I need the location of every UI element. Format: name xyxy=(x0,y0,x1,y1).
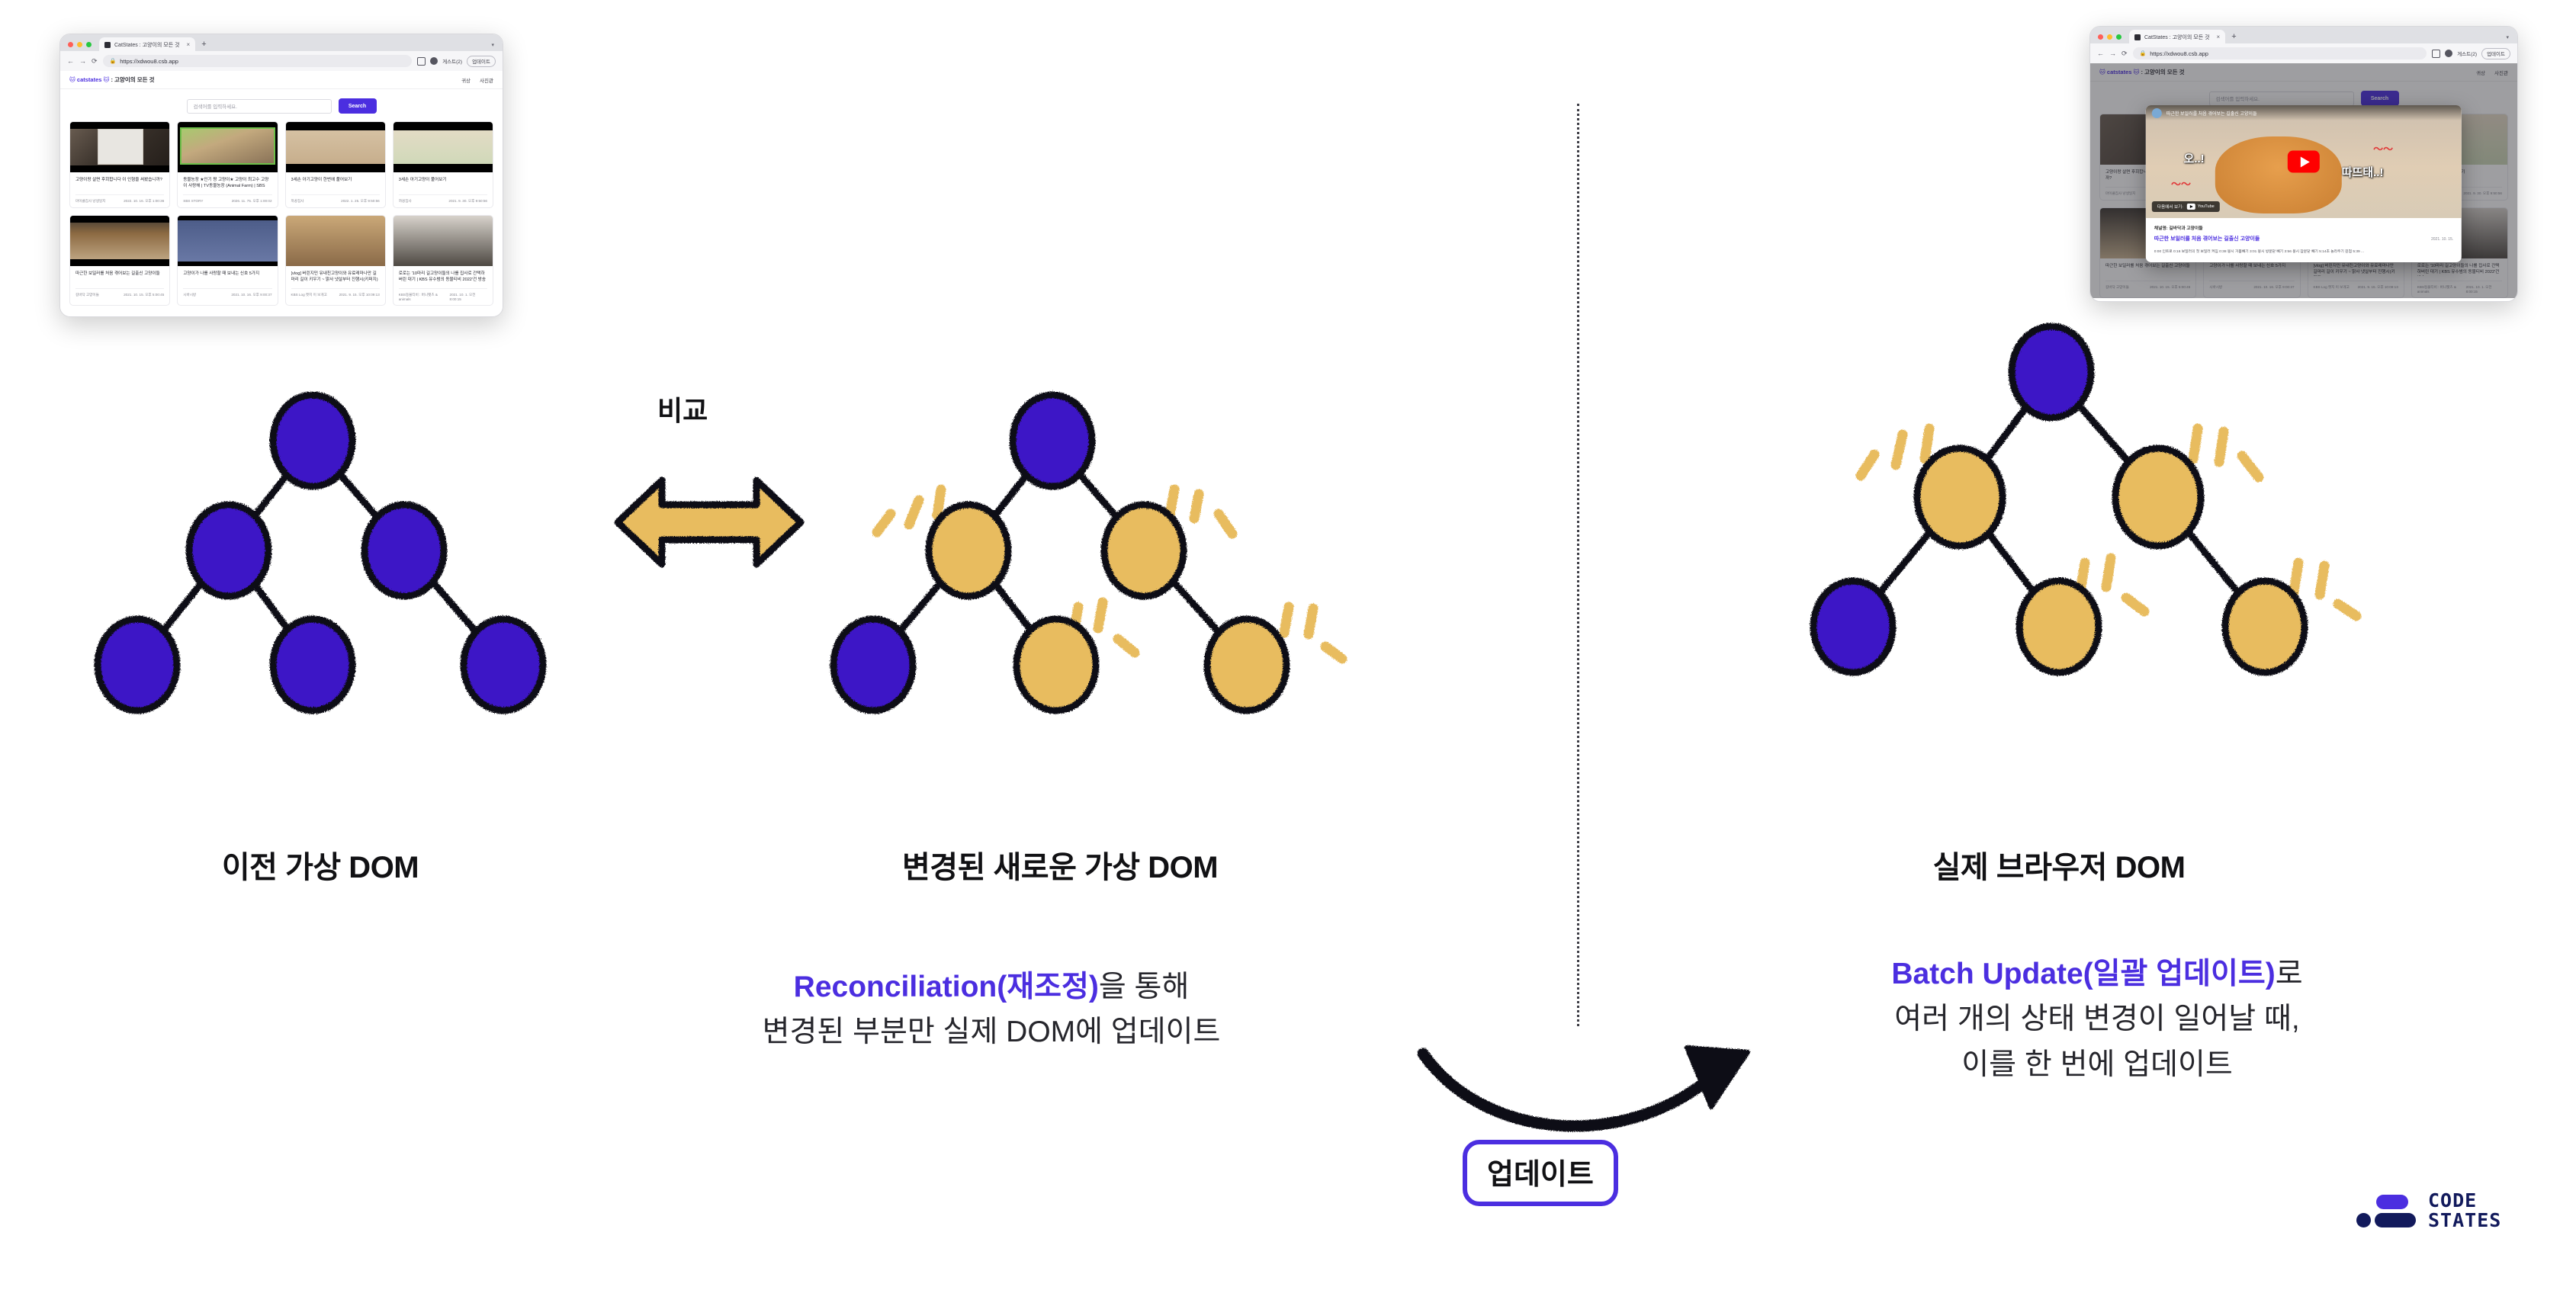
tree-node-ll[interactable] xyxy=(1813,581,1893,672)
youtube-label: YouTube xyxy=(2198,204,2215,209)
omnibox-toolbar: ← → ⟳ 🔒 https://xdwou8.csb.app 게스트(2) 업데… xyxy=(60,51,503,71)
tab-strip: CatStates : 고양이의 모든 것 × + ▾ xyxy=(60,34,503,51)
card-title: 따근한 보일러를 처음 겪어보는 길출신 고양이들 xyxy=(75,271,164,284)
logo-pill-top-icon xyxy=(2376,1195,2408,1209)
modal-kicker: 채널명: 길바닥과 고양이들 xyxy=(2154,224,2453,231)
tree-label-new: 변경된 새로운 가상 DOM xyxy=(763,842,1357,887)
logo-pill-bottom-icon xyxy=(2375,1213,2416,1227)
omnibox-actions: 게스트(2) 업데이트 xyxy=(417,56,496,67)
caption-left-highlight: Reconciliation(재조정) xyxy=(794,971,1099,1003)
sidepanel-icon[interactable] xyxy=(2432,50,2440,58)
overlay-text-1: 따뜨태..! xyxy=(2342,164,2384,180)
card-title: 3세손 아기고양이 풀어보기 xyxy=(399,177,487,190)
logo-mark-icon xyxy=(2356,1193,2416,1228)
minimize-window-icon[interactable] xyxy=(2107,34,2112,40)
search-button[interactable]: Search xyxy=(339,98,377,114)
browser-tab[interactable]: CatStates : 고양이의 모든 것 × xyxy=(99,37,195,53)
close-window-icon[interactable] xyxy=(2098,34,2103,40)
thumbnail xyxy=(178,122,277,172)
video-title: 따근한 보일러를 처음 겪어보는 길출신 고양이들 xyxy=(2166,110,2257,117)
maximize-window-icon[interactable] xyxy=(2116,34,2122,40)
tree-node-rr[interactable] xyxy=(2225,581,2305,672)
tree-node-r[interactable] xyxy=(365,505,444,596)
caption-right-tail: 로 xyxy=(2276,958,2303,990)
thumbnail xyxy=(393,216,493,266)
card-date: 2022. 10. 16. 오후 1:00:36 xyxy=(124,199,164,204)
logo-wordmark: CODE STATES xyxy=(2428,1191,2501,1230)
reload-icon[interactable]: ⟳ xyxy=(2122,50,2128,57)
tree-node-root[interactable] xyxy=(2012,326,2091,418)
card-title: 로로는 '10마리 길고양이들의 나를 집사로 간택하버린 대기 | KBS 유… xyxy=(399,271,487,284)
caption-left-line2: 변경된 부분만 실제 DOM에 업데이트 xyxy=(534,1009,1449,1054)
modal-date: 2021. 10. 15. xyxy=(2431,237,2453,242)
video-card-grid: 고양이랑 살면 후회합니다 이 인형을 써봤습니까? 마이클집사 냥생일지 20… xyxy=(60,121,503,315)
caption-reconciliation: Reconciliation(재조정)을 통해 변경된 부분만 실제 DOM에 … xyxy=(534,964,1449,1055)
card-date: 2021. 10. 15. 오후 5:00:45 xyxy=(124,293,164,297)
tab-title: CatStates : 고양이의 모든 것 xyxy=(2144,34,2210,41)
card-channel: 길바닥 고양이들 xyxy=(75,293,99,297)
lock-icon: 🔒 xyxy=(110,58,117,64)
browser-chrome: CatStates : 고양이의 모든 것 × + ▾ ← → ⟳ 🔒 http… xyxy=(60,34,503,71)
watch-on-youtube[interactable]: 다음에서 보기: YouTube xyxy=(2152,201,2220,212)
browser-chrome: CatStates : 고양이의 모든 것 × + ▾ ← → ⟳ 🔒 http… xyxy=(2090,27,2517,63)
caption-left-line1: Reconciliation(재조정)을 통해 xyxy=(534,964,1449,1009)
video-card[interactable]: 고양이랑 살면 후회합니다 이 인형을 써봤습니까? 마이클집사 냥생일지 20… xyxy=(69,121,170,208)
site-brand[interactable]: 🐱 catstates 🐱 : 고양이의 모든 것 xyxy=(69,75,155,84)
tree-node-r[interactable] xyxy=(1104,505,1184,596)
browser-tab[interactable]: CatStates : 고양이의 모든 것 × xyxy=(2129,30,2225,45)
card-date: 2022. 1. 25. 오후 9:50:56 xyxy=(341,199,380,204)
tree-new-virtual-dom xyxy=(770,351,1350,762)
profile-label: 게스트(2) xyxy=(442,57,462,65)
site-nav: 귀상 사진관 xyxy=(461,76,493,84)
card-date: 2021. 9. 30. 오후 9:50:56 xyxy=(448,199,487,204)
tree-node-lr[interactable] xyxy=(1017,619,1096,711)
card-meta: KBS Log 캣지 이 보개고 2021. 9. 15. 오후 10:09:1… xyxy=(291,288,380,297)
video-modal[interactable]: 따근한 보일러를 처음 겪어보는 길출신 고양이들 오..! 따뜨태..! 〜〜… xyxy=(2146,105,2462,262)
video-card[interactable]: 고양이가 나를 사랑할 때 보내는 신호 5가지 시바시방 2021. 10. … xyxy=(177,215,278,306)
nav-item-1[interactable]: 사진관 xyxy=(480,76,493,84)
video-card[interactable]: [vlog] 버린지민 유내친고양이와 유료레마나만 길마리 길이 키우기 ~ … xyxy=(285,215,386,306)
new-tab-icon[interactable]: + xyxy=(201,40,206,49)
tree-nodes xyxy=(834,395,1286,711)
tree-nodes xyxy=(1813,326,2305,672)
codestates-logo: CODE STATES xyxy=(2356,1191,2501,1230)
video-player[interactable]: 따근한 보일러를 처음 겪어보는 길출신 고양이들 오..! 따뜨태..! 〜〜… xyxy=(2146,105,2462,218)
video-card[interactable]: 3세손 아기고양이 한번에 풀어보기 까꿍집사 2022. 1. 25. 오후 … xyxy=(285,121,386,208)
back-icon[interactable]: ← xyxy=(67,58,74,65)
tree-label-real: 실제 브라우저 DOM xyxy=(1739,842,2379,887)
omnibox-actions: 게스트(2) 업데이트 xyxy=(2432,48,2510,59)
steam-icon-right: 〜〜 xyxy=(2373,141,2393,156)
traffic-lights[interactable] xyxy=(2098,34,2122,40)
tree-node-root[interactable] xyxy=(1013,395,1092,486)
caption-left-tail: 을 통해 xyxy=(1099,971,1189,1003)
modal-title-row: 따근한 보일러를 처음 겪어보는 길출신 고양이들 2021. 10. 15. xyxy=(2154,235,2453,242)
video-card[interactable]: 로로는 '10마리 길고양이들의 나를 집사로 간택하버린 대기 | KBS 유… xyxy=(393,215,493,306)
card-date: 2021. 10. 16. 오후 9:00:37 xyxy=(231,293,271,297)
favicon-icon xyxy=(2134,34,2141,40)
url-text: https://xdwou8.csb.app xyxy=(120,58,178,65)
video-card[interactable]: 3세손 아기고양이 풀어보기 까꿍집사 2021. 9. 30. 오후 9:50… xyxy=(393,121,493,208)
card-meta: KBS동물티비 : 버니펫츠 & animals 2021. 10. 1. 오전… xyxy=(399,288,487,301)
chevron-down-icon[interactable]: ▾ xyxy=(2506,34,2511,40)
avatar[interactable] xyxy=(430,57,438,65)
tab-strip: CatStates : 고양이의 모든 것 × + ▾ xyxy=(2090,27,2517,43)
thumbnail xyxy=(286,122,385,172)
new-tab-icon[interactable]: + xyxy=(2231,33,2236,41)
thumbnail xyxy=(70,122,169,172)
search-row: 검색어를 입력하세요. Search xyxy=(60,89,503,121)
sparkle-group-rr xyxy=(1284,607,1342,659)
card-channel: KBS Log 캣지 이 보개고 xyxy=(291,293,327,297)
compare-label: 비교 xyxy=(657,389,708,428)
avatar[interactable] xyxy=(2445,50,2452,57)
video-titlebar: 따근한 보일러를 처음 겪어보는 길출신 고양이들 xyxy=(2146,105,2462,120)
card-meta: 마이클집사 냥생일지 2022. 10. 16. 오후 1:00:36 xyxy=(75,194,164,204)
steam-icon-left: 〜〜 xyxy=(2171,176,2191,191)
thumbnail xyxy=(286,216,385,266)
tree-node-rr[interactable] xyxy=(464,619,543,711)
site-content-old: 🐱 catstates 🐱 : 고양이의 모든 것 귀상 사진관 검색어를 입력… xyxy=(60,71,503,313)
forward-icon[interactable]: → xyxy=(79,58,86,65)
maximize-window-icon[interactable] xyxy=(86,42,92,47)
card-channel: 까꿍집사 xyxy=(291,199,304,204)
caption-right-line1: Batch Update(일괄 업데이트)로 xyxy=(1716,951,2478,996)
modal-description: 0:00 인트로 0:16 보일러의 첫 보일러 켜짐 0:38 뭉시 거품빼기… xyxy=(2154,249,2453,255)
omnibox-toolbar: ← → ⟳ 🔒 https://xdwou8.csb.app 게스트(2) 업데… xyxy=(2090,43,2517,63)
tree-node-l[interactable] xyxy=(1917,448,2003,546)
card-meta: SBS STORY 2026. 11. 75. 오후 1:00:02 xyxy=(183,194,271,204)
card-meta: 까꿍집사 2022. 1. 25. 오후 9:50:56 xyxy=(291,194,380,204)
tab-title: CatStates : 고양이의 모든 것 xyxy=(114,41,180,49)
search-input[interactable]: 검색어를 입력하세요. xyxy=(187,99,332,114)
tree-node-ll[interactable] xyxy=(834,619,913,711)
overlay-text-0: 오..! xyxy=(2184,150,2205,166)
card-date: 2026. 11. 75. 오후 1:00:02 xyxy=(232,199,272,204)
card-date: 2021. 9. 15. 오후 10:09:13 xyxy=(339,293,380,297)
browser-window-old[interactable]: CatStates : 고양이의 모든 것 × + ▾ ← → ⟳ 🔒 http… xyxy=(59,34,503,317)
tree-real-browser-dom xyxy=(1746,320,2372,762)
card-title: 고양이랑 살면 후회합니다 이 인형을 써봤습니까? xyxy=(75,177,164,190)
nav-item-0[interactable]: 귀상 xyxy=(461,76,471,84)
sparkle-group-r xyxy=(2193,428,2259,477)
tree-node-rr[interactable] xyxy=(1207,619,1286,711)
profile-label: 게스트(2) xyxy=(2457,50,2477,57)
update-badge[interactable]: 업데이트 xyxy=(1463,1140,1618,1206)
reload-icon[interactable]: ⟳ xyxy=(92,58,98,65)
logo-dot-icon xyxy=(2356,1213,2371,1227)
tree-node-root[interactable] xyxy=(273,395,352,486)
youtube-logo-icon: YouTube xyxy=(2187,204,2215,210)
tree-node-l[interactable] xyxy=(929,505,1008,596)
tree-node-r[interactable] xyxy=(2115,448,2201,546)
tree-nodes xyxy=(98,395,543,711)
logo-line-2: STATES xyxy=(2428,1211,2501,1231)
caption-right-line3: 이를 한 번에 업데이트 xyxy=(1716,1042,2478,1087)
browser-window-real[interactable]: CatStates : 고양이의 모든 것 × + ▾ ← → ⟳ 🔒 http… xyxy=(2089,26,2518,302)
watch-on-label: 다음에서 보기: xyxy=(2157,204,2183,210)
update-chip[interactable]: 업데이트 xyxy=(467,56,496,67)
favicon-icon xyxy=(104,42,111,48)
tree-node-lr[interactable] xyxy=(273,619,352,711)
back-icon[interactable]: ← xyxy=(2097,50,2104,57)
thumbnail xyxy=(393,122,493,172)
card-title: 3세손 아기고양이 한번에 풀어보기 xyxy=(291,177,380,190)
minimize-window-icon[interactable] xyxy=(77,42,82,47)
tree-node-ll[interactable] xyxy=(98,619,177,711)
address-bar[interactable]: 🔒 https://xdwou8.csb.app xyxy=(103,55,413,67)
site-content-real: 🐱 catstates 🐱 : 고양이의 모든 것 귀상 사진관 검색어를 입력… xyxy=(2090,63,2517,298)
channel-avatar-icon xyxy=(2152,108,2162,118)
card-meta: 길바닥 고양이들 2021. 10. 15. 오후 5:00:45 xyxy=(75,288,164,297)
card-channel: SBS STORY xyxy=(183,199,203,204)
caption-batch-update: Batch Update(일괄 업데이트)로 여러 개의 상태 변경이 일어날 … xyxy=(1716,951,2478,1087)
tree-node-l[interactable] xyxy=(189,505,268,596)
card-meta: 시바시방 2021. 10. 16. 오후 9:00:37 xyxy=(183,288,271,297)
traffic-lights[interactable] xyxy=(68,42,92,47)
modal-title: 따근한 보일러를 처음 겪어보는 길출신 고양이들 xyxy=(2154,235,2260,242)
card-title: [vlog] 버린지민 유내친고양이와 유료레마나만 길마리 길이 키우기 ~ … xyxy=(291,271,380,284)
tree-label-old: 이전 가상 DOM xyxy=(0,842,641,887)
section-divider xyxy=(1577,104,1579,1026)
tree-node-lr[interactable] xyxy=(2019,581,2099,672)
lock-icon: 🔒 xyxy=(2140,50,2147,56)
caption-right-line2: 여러 개의 상태 변경이 일어날 때, xyxy=(1716,996,2478,1041)
card-date: 2021. 10. 1. 오전 8:00:15 xyxy=(450,293,487,301)
site-header: 🐱 catstates 🐱 : 고양이의 모든 것 귀상 사진관 xyxy=(60,71,503,89)
forward-icon[interactable]: → xyxy=(2109,50,2116,57)
sparkle-group-l xyxy=(1861,428,1929,476)
address-bar[interactable]: 🔒 https://xdwou8.csb.app xyxy=(2133,47,2427,59)
brand-suffix: : 고양이의 모든 것 xyxy=(111,76,154,83)
card-meta: 까꿍집사 2021. 9. 30. 오후 9:50:56 xyxy=(399,194,487,204)
chevron-down-icon[interactable]: ▾ xyxy=(491,42,496,48)
video-card[interactable]: 동물농장 ★인기 짱 고양이★ 고양이 최고수 고양이 사랑해 | TV동물농장… xyxy=(177,121,278,208)
card-title: 동물농장 ★인기 짱 고양이★ 고양이 최고수 고양이 사랑해 | TV동물농장… xyxy=(183,177,271,190)
curved-arrow-shaft xyxy=(1423,1054,1717,1126)
card-title: 고양이가 나를 사랑할 때 보내는 신호 5가지 xyxy=(183,271,271,284)
thumbnail xyxy=(178,216,277,266)
card-channel: 까꿍집사 xyxy=(399,199,412,204)
card-channel: 마이클집사 냥생일지 xyxy=(75,199,105,204)
update-chip[interactable]: 업데이트 xyxy=(2481,48,2510,59)
logo-line-1: CODE xyxy=(2428,1191,2501,1211)
card-channel: 시바시방 xyxy=(183,293,196,297)
card-channel: KBS동물티비 : 버니펫츠 & animals xyxy=(399,293,450,301)
close-tab-icon[interactable]: × xyxy=(2217,34,2221,40)
modal-body: 채널명: 길바닥과 고양이들 따근한 보일러를 처음 겪어보는 길출신 고양이들… xyxy=(2146,218,2462,262)
play-button[interactable] xyxy=(2288,151,2320,173)
brand-name: catstates xyxy=(77,76,102,83)
tree-old-virtual-dom xyxy=(46,351,580,762)
video-card[interactable]: 따근한 보일러를 처음 겪어보는 길출신 고양이들 길바닥 고양이들 2021.… xyxy=(69,215,170,306)
sidepanel-icon[interactable] xyxy=(417,57,426,66)
caption-right-highlight: Batch Update(일괄 업데이트) xyxy=(1891,958,2275,990)
url-text: https://xdwou8.csb.app xyxy=(2150,50,2208,57)
close-window-icon[interactable] xyxy=(68,42,73,47)
close-tab-icon[interactable]: × xyxy=(187,41,191,48)
thumbnail xyxy=(70,216,169,266)
